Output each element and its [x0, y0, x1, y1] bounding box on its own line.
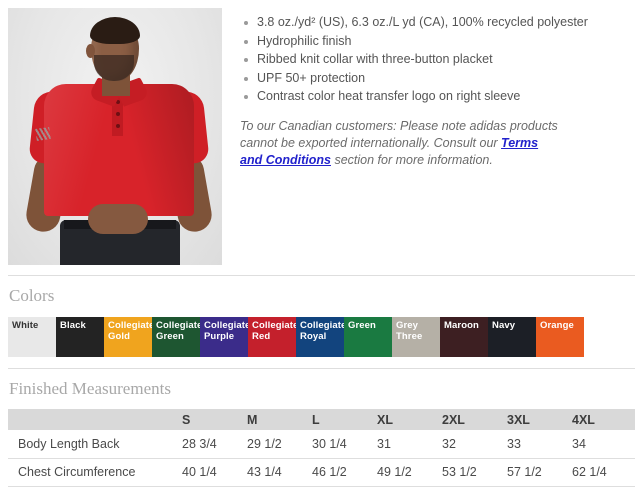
measurements-heading: Finished Measurements	[9, 379, 643, 399]
swatch-label: Collegiate Gold	[108, 320, 150, 342]
column-header-measurement	[8, 409, 180, 430]
swatch-label: Collegiate Green	[156, 320, 198, 342]
product-detail-page: 3.8 oz./yd² (US), 6.3 oz./L yd (CA), 100…	[0, 0, 643, 492]
swatch-label: Collegiate Royal	[300, 320, 342, 342]
table-row: Chest Circumference 40 1/4 43 1/4 46 1/2…	[8, 458, 635, 486]
product-photo-illustration	[8, 8, 222, 265]
cell-value: 40 1/4	[180, 458, 245, 486]
swatch-label: Navy	[492, 320, 534, 331]
row-label: Sleeve Length	[8, 486, 180, 492]
cell-value: 10 3/4	[440, 486, 505, 492]
swatch-label: Collegiate Red	[252, 320, 294, 342]
column-header-l: L	[310, 409, 375, 430]
color-swatch-collegiate-gold[interactable]: Collegiate Gold	[104, 317, 152, 357]
swatch-label: White	[12, 320, 54, 331]
cell-value: 43 1/4	[245, 458, 310, 486]
adidas-logo-icon	[35, 127, 51, 141]
cell-value: 32	[440, 430, 505, 458]
cell-value: 46 1/2	[310, 458, 375, 486]
table-row: Sleeve Length 9 1/2 10 10 1/4 10 1/2 10 …	[8, 486, 635, 492]
cell-value: 11 1/2	[570, 486, 635, 492]
canadian-customers-disclaimer: To our Canadian customers: Please note a…	[240, 118, 560, 169]
color-swatch-navy[interactable]: Navy	[488, 317, 536, 357]
color-swatch-maroon[interactable]: Maroon	[440, 317, 488, 357]
color-swatch-collegiate-red[interactable]: Collegiate Red	[248, 317, 296, 357]
feature-item: UPF 50+ protection	[240, 70, 637, 88]
cell-value: 31	[375, 430, 440, 458]
cell-value: 57 1/2	[505, 458, 570, 486]
cell-value: 30 1/4	[310, 430, 375, 458]
row-label: Body Length Back	[8, 430, 180, 458]
swatch-label: Collegiate Purple	[204, 320, 246, 342]
cell-value: 28 3/4	[180, 430, 245, 458]
product-image[interactable]	[8, 8, 222, 265]
cell-value: 10	[245, 486, 310, 492]
column-header-2xl: 2XL	[440, 409, 505, 430]
cell-value: 29 1/2	[245, 430, 310, 458]
feature-item: Contrast color heat transfer logo on rig…	[240, 88, 637, 106]
colors-divider	[8, 275, 635, 276]
cell-value: 62 1/4	[570, 458, 635, 486]
feature-item: Ribbed knit collar with three-button pla…	[240, 51, 637, 69]
feature-item: Hydrophilic finish	[240, 33, 637, 51]
swatch-label: Orange	[540, 320, 582, 331]
column-header-m: M	[245, 409, 310, 430]
swatch-label: Green	[348, 320, 390, 331]
table-header-row: S M L XL 2XL 3XL 4XL	[8, 409, 635, 430]
color-swatch-grey-three[interactable]: Grey Three	[392, 317, 440, 357]
feature-item: 3.8 oz./yd² (US), 6.3 oz./L yd (CA), 100…	[240, 14, 637, 32]
color-swatch-orange[interactable]: Orange	[536, 317, 584, 357]
column-header-s: S	[180, 409, 245, 430]
color-swatch-collegiate-green[interactable]: Collegiate Green	[152, 317, 200, 357]
cell-value: 11 1/4	[505, 486, 570, 492]
colors-heading: Colors	[9, 286, 643, 306]
color-swatch-collegiate-purple[interactable]: Collegiate Purple	[200, 317, 248, 357]
product-specs: 3.8 oz./yd² (US), 6.3 oz./L yd (CA), 100…	[222, 8, 643, 181]
swatch-label: Grey Three	[396, 320, 438, 342]
swatch-label: Black	[60, 320, 102, 331]
color-swatch-green[interactable]: Green	[344, 317, 392, 357]
product-overview-section: 3.8 oz./yd² (US), 6.3 oz./L yd (CA), 100…	[0, 0, 643, 265]
cell-value: 10 1/2	[375, 486, 440, 492]
cell-value: 10 1/4	[310, 486, 375, 492]
column-header-3xl: 3XL	[505, 409, 570, 430]
cell-value: 49 1/2	[375, 458, 440, 486]
feature-list: 3.8 oz./yd² (US), 6.3 oz./L yd (CA), 100…	[240, 14, 637, 106]
cell-value: 9 1/2	[180, 486, 245, 492]
color-swatch-white[interactable]: White	[8, 317, 56, 357]
color-swatch-collegiate-royal[interactable]: Collegiate Royal	[296, 317, 344, 357]
cell-value: 53 1/2	[440, 458, 505, 486]
column-header-xl: XL	[375, 409, 440, 430]
cell-value: 33	[505, 430, 570, 458]
color-swatch-list: White Black Collegiate Gold Collegiate G…	[8, 317, 643, 357]
color-swatch-black[interactable]: Black	[56, 317, 104, 357]
measurements-divider	[8, 368, 635, 369]
swatch-label: Maroon	[444, 320, 486, 331]
finished-measurements-table: S M L XL 2XL 3XL 4XL Body Length Back 28…	[8, 409, 635, 492]
table-row: Body Length Back 28 3/4 29 1/2 30 1/4 31…	[8, 430, 635, 458]
disclaimer-text-after: section for more information.	[331, 153, 493, 167]
row-label: Chest Circumference	[8, 458, 180, 486]
column-header-4xl: 4XL	[570, 409, 635, 430]
cell-value: 34	[570, 430, 635, 458]
